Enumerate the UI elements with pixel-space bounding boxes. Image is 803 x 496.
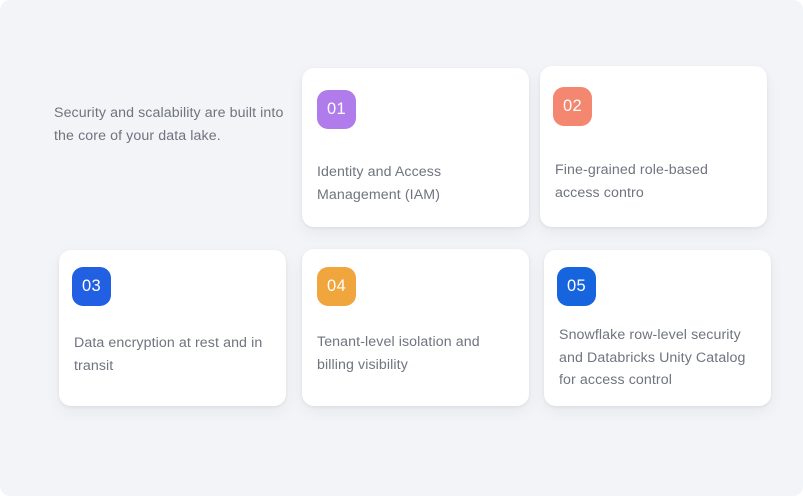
feature-card-01[interactable]: 01 Identity and Access Management (IAM) xyxy=(302,68,529,227)
intro-paragraph: Security and scalability are built into … xyxy=(54,102,286,148)
slide-canvas: Security and scalability are built into … xyxy=(0,0,803,496)
card-number-badge: 04 xyxy=(317,267,356,306)
card-number-badge: 01 xyxy=(317,90,356,129)
card-title: Tenant-level isolation and billing visib… xyxy=(317,331,517,376)
feature-card-04[interactable]: 04 Tenant-level isolation and billing vi… xyxy=(302,249,529,406)
card-number-badge: 03 xyxy=(72,267,111,306)
feature-card-03[interactable]: 03 Data encryption at rest and in transi… xyxy=(59,250,286,406)
card-number-badge: 02 xyxy=(553,87,592,126)
feature-card-05[interactable]: 05 Snowflake row-level security and Data… xyxy=(544,250,771,406)
card-title: Data encryption at rest and in transit xyxy=(74,332,272,377)
card-title: Fine-grained role-based access contro xyxy=(555,159,753,204)
feature-card-02[interactable]: 02 Fine-grained role-based access contro xyxy=(540,66,767,227)
card-title: Identity and Access Management (IAM) xyxy=(317,161,517,206)
card-title: Snowflake row-level security and Databri… xyxy=(559,324,763,392)
card-number-badge: 05 xyxy=(557,267,596,306)
